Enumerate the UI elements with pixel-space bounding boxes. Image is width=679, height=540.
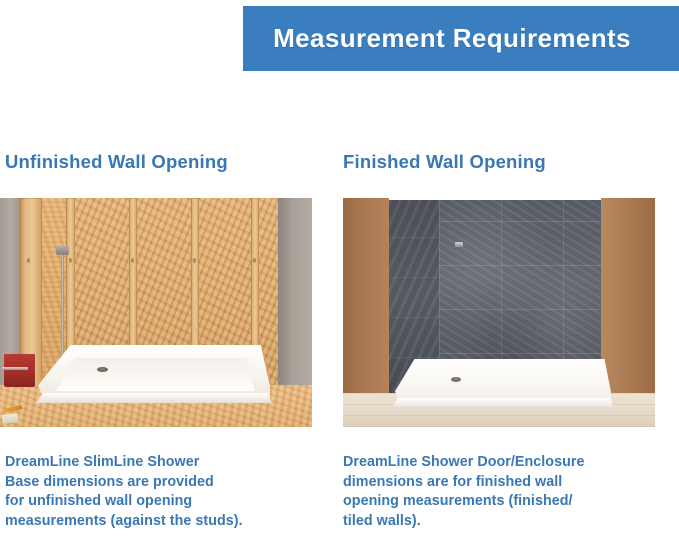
caption-unfinished: DreamLine SlimLine Shower Base dimension… [5, 453, 325, 531]
photo-unfinished-wall-opening [0, 198, 312, 427]
caption-unfinished-line-3: for unfinished wall opening [5, 492, 325, 512]
caption-finished: DreamLine Shower Door/Enclosure dimensio… [343, 453, 668, 531]
panel-unfinished-wall-opening: Unfinished Wall Opening [5, 150, 335, 174]
panel-finished-wall-opening: Finished Wall Opening [343, 150, 675, 174]
caption-unfinished-line-4: measurements (against the studs). [5, 512, 325, 532]
section-heading-finished: Finished Wall Opening [343, 150, 675, 174]
shower-drain-finished [451, 377, 461, 382]
unfinished-room-scene [0, 198, 312, 427]
paper-scrap [2, 413, 19, 424]
finished-room-scene [343, 198, 655, 427]
drywall-panel-right [278, 198, 312, 408]
section-heading-unfinished: Unfinished Wall Opening [5, 150, 335, 174]
caption-unfinished-line-1: DreamLine SlimLine Shower [5, 453, 325, 473]
caption-finished-line-4: tiled walls). [343, 512, 668, 532]
shower-valve-fitting [455, 242, 463, 247]
painted-wall-right [601, 198, 655, 403]
caption-finished-line-1: DreamLine Shower Door/Enclosure [343, 453, 668, 473]
red-toolbox [4, 354, 35, 387]
shower-base-threshold-finished [393, 398, 613, 407]
shower-drain-unfinished [97, 367, 108, 372]
header-banner: Measurement Requirements [243, 6, 679, 71]
caption-finished-line-3: opening measurements (finished/ [343, 492, 668, 512]
caption-finished-line-2: dimensions are for finished wall [343, 473, 668, 493]
page-title: Measurement Requirements [243, 22, 661, 53]
shower-base-floor-unfinished [52, 358, 257, 391]
shower-base-threshold-unfinished [36, 393, 272, 403]
toolbox-handle [2, 367, 28, 370]
photo-finished-wall-opening [343, 198, 655, 427]
caption-unfinished-line-2: Base dimensions are provided [5, 473, 325, 493]
painted-wall-left [343, 198, 389, 398]
pipe-fitting [56, 246, 69, 255]
